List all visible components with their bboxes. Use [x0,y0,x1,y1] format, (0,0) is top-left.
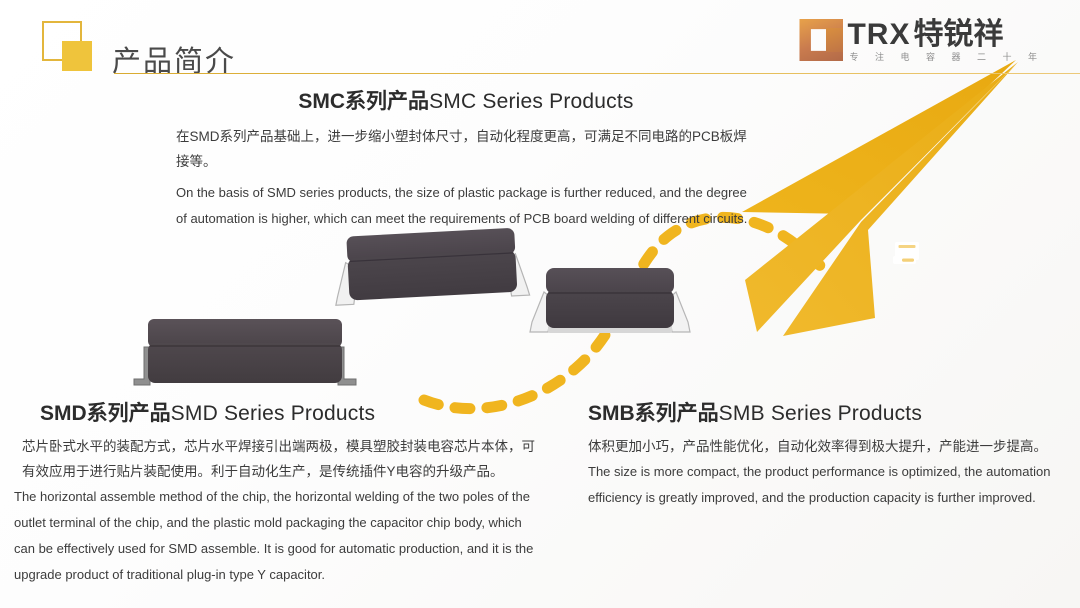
section-smd-heading-cn: SMD系列产品 [40,402,171,425]
brand-name: TRX特锐祥 [847,18,1044,51]
section-smd-heading: SMD系列产品SMD Series Products [14,400,544,428]
section-smd-body-cn: 芯片卧式水平的装配方式，芯片水平焊接引出端两极，模具塑胶封装电容芯片本体，可有效… [14,434,544,484]
section-smc-heading-en: SMC Series Products [429,90,634,113]
header-divider-rule [114,73,1080,74]
section-smb: SMB系列产品SMB Series Products 体积更加小巧，产品性能优化… [588,400,1068,511]
brand-name-latin: TRX [847,18,910,51]
section-smb-heading-en: SMB Series Products [719,402,922,425]
smc-package-render [330,222,540,312]
section-smc-body-cn: 在SMD系列产品基础上，进一步缩小塑封体尺寸，自动化程度更高，可满足不同电路的P… [176,124,756,174]
section-smd-heading-en: SMD Series Products [171,402,376,425]
brand-logo: TRX特锐祥 专 注 电 容 器 二 十 年 [799,18,1044,68]
double-square-icon [42,21,94,73]
section-smb-heading: SMB系列产品SMB Series Products [588,400,1068,428]
smd-package-render [126,305,366,395]
slide-canvas: 产品简介 TRX特锐祥 专 注 电 容 器 二 十 年 SMC系列产品SMC S… [0,0,1080,608]
section-smd: SMD系列产品SMD Series Products 芯片卧式水平的装配方式，芯… [14,400,544,588]
page-title: 产品简介 [112,42,236,82]
smb-package-render [524,258,699,348]
brand-tagline: 专 注 电 容 器 二 十 年 [847,51,1044,64]
brand-text-group: TRX特锐祥 专 注 电 容 器 二 十 年 [847,18,1044,64]
section-smd-body-en: The horizontal assemble method of the ch… [14,484,544,588]
c-block-shape [826,28,843,52]
brand-name-cjk: 特锐祥 [913,18,1003,51]
section-smc-heading-cn: SMC系列产品 [298,90,429,113]
section-smc-heading: SMC系列产品SMC Series Products [176,88,756,116]
trx-c-mark-icon [799,19,843,61]
section-smb-body-cn: 体积更加小巧，产品性能优化，自动化效率得到极大提升，产能进一步提高。 [588,434,1068,459]
delivery-card-icon [893,242,919,264]
section-smc: SMC系列产品SMC Series Products 在SMD系列产品基础上，进… [176,88,756,232]
section-smb-body-en: The size is more compact, the product pe… [588,459,1068,511]
section-smb-heading-cn: SMB系列产品 [588,402,719,425]
square-filled-shape [62,41,92,71]
